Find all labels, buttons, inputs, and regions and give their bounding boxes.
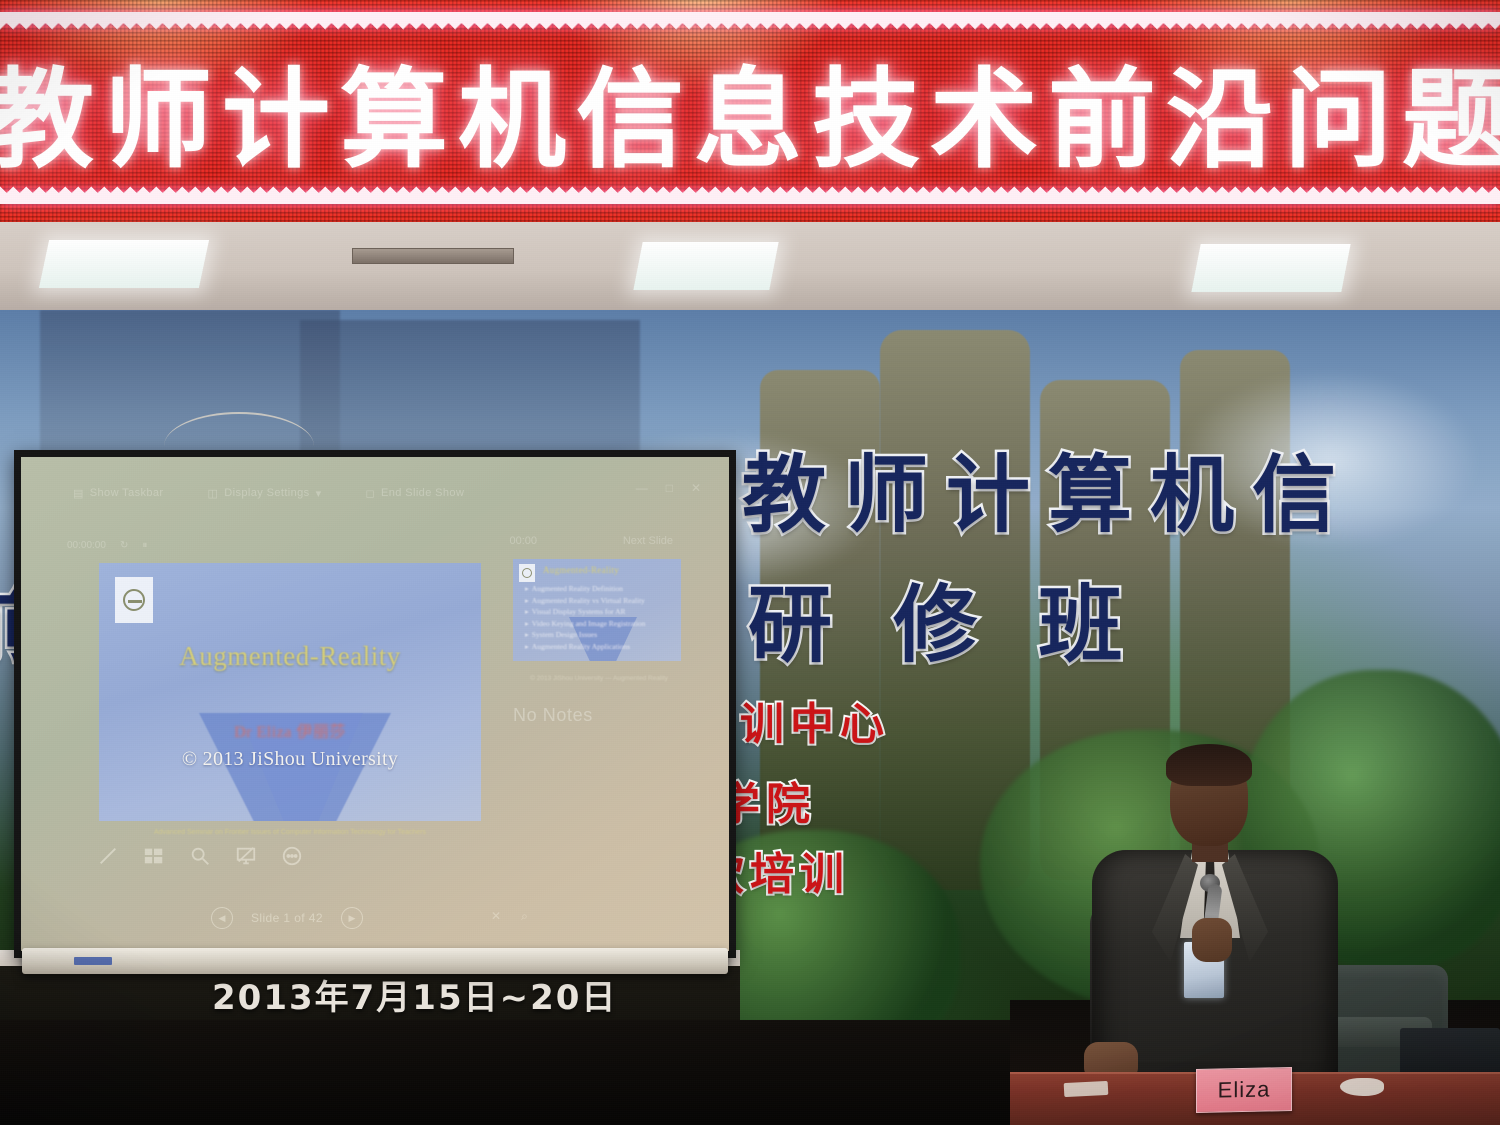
- display-settings-label: Display Settings: [224, 487, 309, 499]
- more-options-icon[interactable]: [281, 845, 303, 867]
- black-screen-icon[interactable]: [235, 845, 257, 867]
- projection-screen: ▤ Show Taskbar ◫ Display Settings ▾ ◻ En…: [14, 442, 736, 987]
- led-banner: 教师计算机信息技术前沿问题高: [0, 0, 1500, 222]
- show-taskbar-label: Show Taskbar: [90, 487, 164, 499]
- list-item: System Design Issues: [525, 629, 675, 641]
- end-slide-show-button[interactable]: ◻ End Slide Show: [366, 487, 465, 500]
- university-crest-logo-small: [519, 564, 535, 582]
- display-icon: ◫: [208, 487, 219, 500]
- backdrop-title-line1: 教师计算机信: [742, 428, 1354, 549]
- notes-zoom-in-icon[interactable]: ⌕: [521, 909, 528, 924]
- notes-zoom-out-icon[interactable]: ✕: [491, 909, 501, 924]
- crest-shape: [522, 568, 532, 578]
- window-controls[interactable]: — □ ✕: [636, 481, 701, 495]
- presenter-hand-holding-mic: [1192, 918, 1232, 962]
- screen-roller-bar: [22, 948, 728, 974]
- list-item: Visual Display Systems for AR: [525, 606, 675, 618]
- slide-navigation[interactable]: ◀ Slide 1 of 42 ▶: [211, 907, 363, 929]
- ceiling-air-vent: [352, 248, 514, 264]
- notes-panel-empty: No Notes: [513, 705, 593, 726]
- next-slide-label: Next Slide: [623, 535, 673, 547]
- presenter-figure: [1074, 742, 1374, 1082]
- slide-footnote: Advanced Seminar on Frontier Issues of C…: [99, 829, 481, 836]
- university-crest-logo: [115, 577, 153, 623]
- ceiling-light-panel: [39, 240, 209, 288]
- papers-on-desk: [1064, 1081, 1109, 1097]
- next-slide-footer: © 2013 JiShou University — Augmented Rea…: [517, 675, 681, 682]
- name-placard: Eliza: [1196, 1067, 1292, 1113]
- slide-subtitle: Dr Eliza 伊丽莎: [99, 718, 481, 742]
- close-icon[interactable]: ✕: [691, 481, 701, 495]
- next-slide-preview[interactable]: Augmented-Reality Augmented Reality Defi…: [513, 559, 681, 661]
- clock-time: 00:00: [509, 535, 537, 547]
- slide-counter: Slide 1 of 42: [251, 911, 323, 925]
- next-slide-bullets: Augmented Reality Definition Augmented R…: [525, 583, 675, 653]
- end-slide-show-label: End Slide Show: [381, 487, 464, 499]
- list-item: Video Keying and Image Registration: [525, 618, 675, 630]
- zoom-in-icon[interactable]: [189, 845, 211, 867]
- notes-zoom-controls[interactable]: ✕ ⌕: [491, 909, 528, 924]
- chevron-down-icon: ▾: [316, 487, 322, 500]
- maximize-icon[interactable]: □: [666, 481, 673, 495]
- all-slides-icon[interactable]: [143, 845, 165, 867]
- current-slide-preview[interactable]: Augmented-Reality Dr Eliza 伊丽莎 © 2013 Ji…: [99, 563, 481, 821]
- list-item: Augmented Reality vs Virtual Reality: [525, 595, 675, 607]
- screen-surface: ▤ Show Taskbar ◫ Display Settings ▾ ◻ En…: [21, 457, 729, 951]
- conference-hall-photo: 教师计算机信息技术前沿问题高 教师计算机信 研 修 班 前 培训中心 学院 软培…: [0, 0, 1500, 1125]
- pen-icon[interactable]: [97, 845, 119, 867]
- display-settings-button[interactable]: ◫ Display Settings ▾: [208, 487, 322, 500]
- show-taskbar-button[interactable]: ▤ Show Taskbar: [73, 487, 164, 500]
- crest-shape: [123, 589, 145, 611]
- ceiling: [0, 222, 1500, 310]
- elapsed-time: 00:00:00: [67, 540, 106, 551]
- object-on-desk: [1340, 1078, 1384, 1096]
- screen-frame: ▤ Show Taskbar ◫ Display Settings ▾ ◻ En…: [14, 450, 736, 958]
- restart-timer-icon[interactable]: ↻: [120, 540, 128, 551]
- powerpoint-presenter-view: ▤ Show Taskbar ◫ Display Settings ▾ ◻ En…: [21, 457, 729, 951]
- presenter-timer-bar: 00:00:00 ↻ ⏸: [67, 535, 687, 555]
- ceiling-light-panel: [633, 242, 778, 290]
- presenter-topbar: ▤ Show Taskbar ◫ Display Settings ▾ ◻ En…: [21, 479, 729, 507]
- ceiling-light-panel: [1191, 244, 1350, 292]
- presenter-toolbar[interactable]: [97, 845, 303, 867]
- slideshow-icon: ◻: [366, 487, 376, 500]
- next-slide-title: Augmented-Reality: [543, 565, 675, 575]
- previous-slide-button[interactable]: ◀: [211, 907, 233, 929]
- slide-copyright: © 2013 JiShou University: [99, 748, 481, 771]
- slide-title: Augmented-Reality: [99, 641, 481, 672]
- monitor-icon: ▤: [73, 487, 84, 500]
- banner-title: 教师计算机信息技术前沿问题高: [0, 46, 1500, 176]
- next-slide-button[interactable]: ▶: [341, 907, 363, 929]
- pause-timer-icon[interactable]: ⏸: [142, 540, 147, 551]
- presenter-hair: [1166, 744, 1252, 786]
- name-placard-text: Eliza: [1218, 1076, 1271, 1103]
- backdrop-title-line2: 研 修 班: [748, 558, 1139, 679]
- screen-brand-label: [74, 957, 112, 965]
- list-item: Augmented Reality Definition: [525, 583, 675, 595]
- list-item: Augmented Reality Applications: [525, 641, 675, 653]
- minimize-icon[interactable]: —: [636, 481, 648, 495]
